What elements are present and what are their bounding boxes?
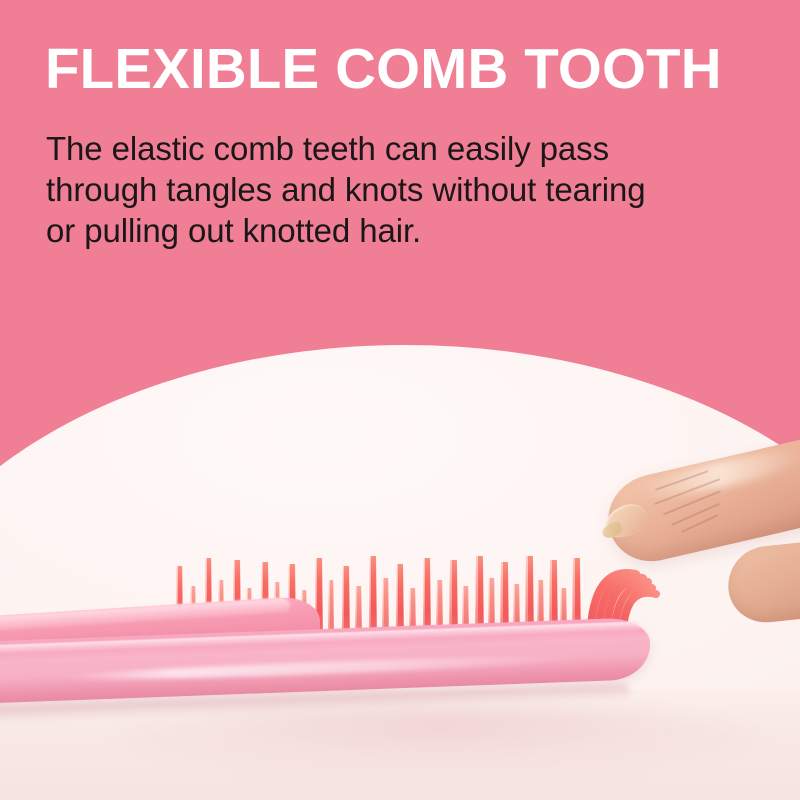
description-line-3: or pulling out knotted hair. — [46, 210, 726, 251]
brush-body — [0, 500, 700, 730]
product-feature-card: FLEXIBLE COMB TOOTH The elastic comb tee… — [0, 0, 800, 800]
second-finger — [724, 538, 800, 626]
product-photo — [0, 0, 800, 800]
description-line-2: through tangles and knots without tearin… — [46, 169, 726, 210]
description-line-1: The elastic comb teeth can easily pass — [46, 128, 726, 169]
hand — [600, 440, 800, 670]
wrinkle-line — [663, 490, 721, 515]
wrinkle-line — [654, 478, 720, 504]
description-text: The elastic comb teeth can easily pass t… — [46, 128, 726, 251]
page-title: FLEXIBLE COMB TOOTH — [45, 40, 722, 100]
